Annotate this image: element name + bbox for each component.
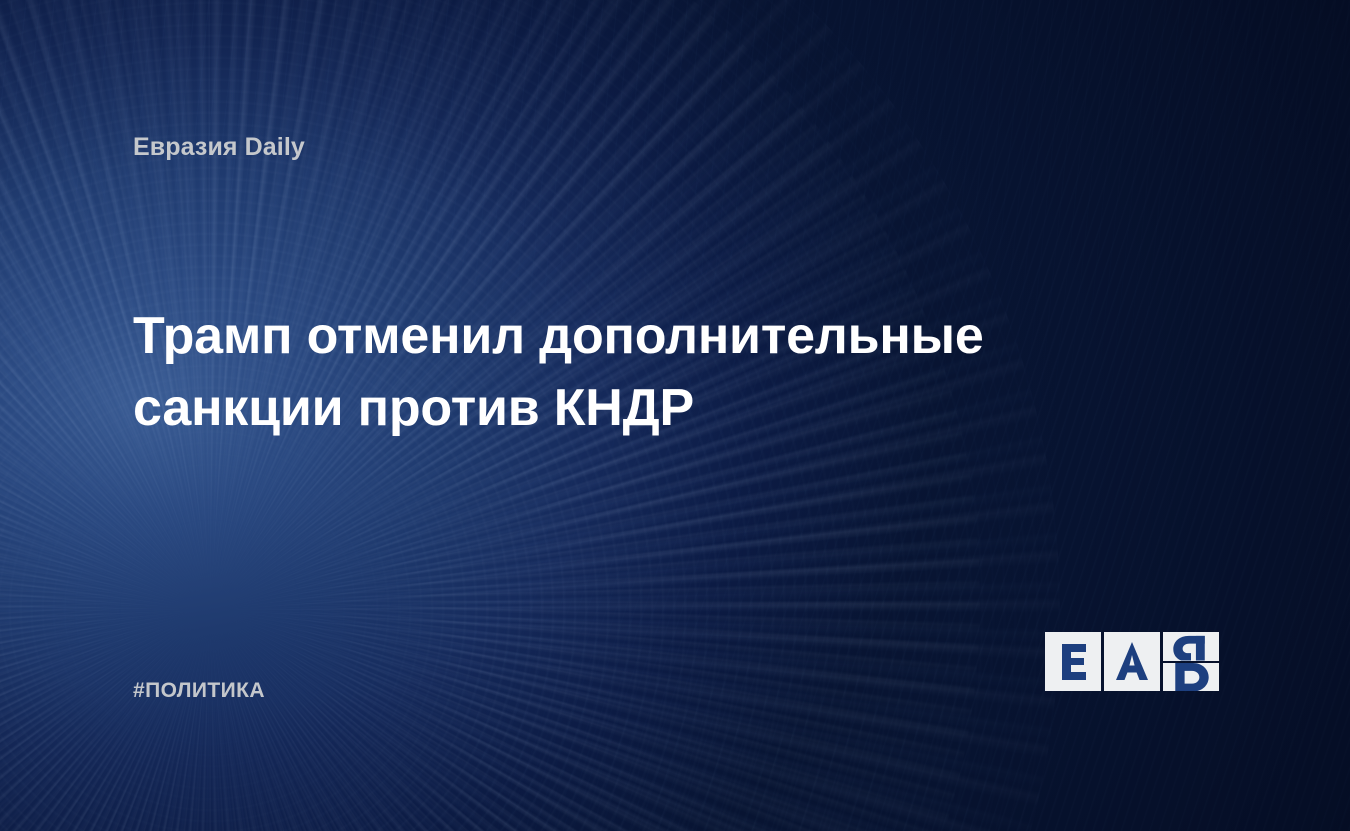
category-tag: #ПОЛИТИКА (133, 679, 265, 703)
brand-name: Евразия Daily (133, 133, 305, 162)
letter-a-icon (1104, 632, 1160, 691)
logo-tile-a (1104, 632, 1160, 691)
logo-tile-e (1045, 632, 1101, 691)
letter-e-icon (1045, 632, 1101, 691)
eadaily-logo (1045, 632, 1221, 691)
logo-tile-d-lower (1163, 663, 1219, 692)
letter-d-icon (1163, 663, 1219, 692)
headline-title: Трамп отменил дополнительные санкции про… (133, 300, 1063, 444)
logo-tile-d-upper (1163, 632, 1219, 661)
logo-tile-column-d (1163, 632, 1219, 691)
news-share-card: Евразия Daily Трамп отменил дополнительн… (0, 0, 1350, 831)
letter-d-mirrored-icon (1163, 632, 1219, 661)
